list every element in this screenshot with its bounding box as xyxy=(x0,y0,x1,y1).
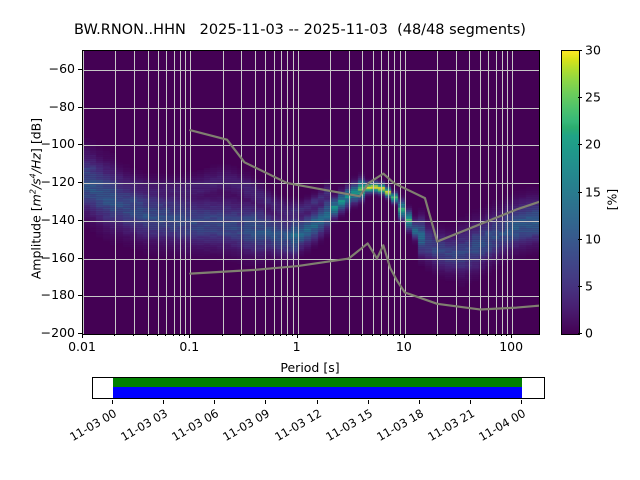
x-axis-tick-minor xyxy=(157,334,158,336)
colorbar-tick-label: 20 xyxy=(585,137,601,152)
axes-inner xyxy=(83,51,539,334)
y-axis-tick xyxy=(78,182,82,183)
x-axis-tick-label: 10 xyxy=(396,339,412,354)
y-axis-tick-label: −200 xyxy=(30,325,75,340)
x-axis-tick-minor xyxy=(329,334,330,336)
x-axis-tick-major xyxy=(82,334,83,338)
time-coverage-bar[interactable] xyxy=(92,377,545,399)
x-axis-tick-minor xyxy=(372,334,373,336)
x-axis-tick-minor xyxy=(487,334,488,336)
x-axis-tick-minor xyxy=(393,334,394,336)
gridline-horizontal xyxy=(83,334,539,335)
colorbar-tick xyxy=(578,239,582,240)
nlnm-curve xyxy=(190,243,539,309)
x-axis-tick-minor xyxy=(222,334,223,336)
time-axis-tick xyxy=(419,400,420,404)
colorbar-tick xyxy=(578,50,582,51)
x-axis-tick-minor xyxy=(455,334,456,336)
x-axis-tick-major xyxy=(297,334,298,338)
x-axis-tick-minor xyxy=(273,334,274,336)
colorbar-tick-label: 30 xyxy=(585,43,601,58)
y-axis-tick xyxy=(78,69,82,70)
x-axis-tick-minor xyxy=(292,334,293,336)
x-axis-tick-label: 0.01 xyxy=(68,339,96,354)
x-axis-tick-minor xyxy=(361,334,362,336)
x-axis-tick-minor xyxy=(286,334,287,336)
colorbar-tick-label: 25 xyxy=(585,90,601,105)
x-axis-tick-minor xyxy=(254,334,255,336)
x-axis-tick-minor xyxy=(264,334,265,336)
time-axis-tick xyxy=(368,400,369,404)
colorbar-tick-label: 0 xyxy=(585,326,593,341)
noise-model-curves xyxy=(83,51,539,334)
x-axis-tick-minor xyxy=(173,334,174,336)
x-axis-tick-major xyxy=(404,334,405,338)
x-axis-tick-minor xyxy=(240,334,241,336)
x-axis-tick-minor xyxy=(147,334,148,336)
x-axis-tick-label: 100 xyxy=(499,339,523,354)
x-axis-tick-minor xyxy=(399,334,400,336)
y-axis-label-text: Amplitude [m2/s4/Hz] [dB] xyxy=(29,118,44,279)
x-axis-tick-minor xyxy=(280,334,281,336)
y-axis-label: Amplitude [m2/s4/Hz] [dB] xyxy=(28,79,43,319)
time-axis-tick xyxy=(317,400,318,404)
x-axis-tick-major xyxy=(189,334,190,338)
x-axis-tick-minor xyxy=(468,334,469,336)
page-title: BW.RNON..HHN 2025-11-03 -- 2025-11-03 (4… xyxy=(0,22,600,38)
time-axis-tick xyxy=(112,400,113,404)
colorbar-label: [%] xyxy=(605,160,620,240)
x-axis-tick-minor xyxy=(436,334,437,336)
x-axis-tick-minor xyxy=(114,334,115,336)
x-axis-tick-minor xyxy=(165,334,166,336)
x-axis-label: Period [s] xyxy=(82,360,538,375)
y-axis-tick xyxy=(78,295,82,296)
colorbar-tick-label: 10 xyxy=(585,232,601,247)
x-axis-tick-minor xyxy=(387,334,388,336)
x-axis-tick-minor xyxy=(479,334,480,336)
x-axis-tick-label: 1 xyxy=(293,339,301,354)
x-axis-tick-minor xyxy=(506,334,507,336)
time-axis-tick xyxy=(163,400,164,404)
data-coverage-segment xyxy=(113,378,522,387)
x-axis-tick-major xyxy=(511,334,512,338)
x-axis-tick-minor xyxy=(348,334,349,336)
y-axis-tick xyxy=(78,258,82,259)
x-axis-tick-minor xyxy=(179,334,180,336)
x-axis-tick-label: 0.1 xyxy=(179,339,199,354)
colorbar-tick xyxy=(578,286,582,287)
psd-coverage-segment xyxy=(113,387,522,398)
colorbar-tick xyxy=(578,192,582,193)
x-axis-tick-minor xyxy=(184,334,185,336)
x-axis-tick-minor xyxy=(380,334,381,336)
time-axis-tick xyxy=(214,400,215,404)
colorbar-tick xyxy=(578,333,582,334)
colorbar-tick-label: 5 xyxy=(585,279,593,294)
y-axis-tick xyxy=(78,220,82,221)
ppsd-plot-area[interactable] xyxy=(82,50,540,335)
ppsd-figure: BW.RNON..HHN 2025-11-03 -- 2025-11-03 (4… xyxy=(0,0,640,480)
time-axis-tick xyxy=(265,400,266,404)
y-axis-tick xyxy=(78,107,82,108)
time-axis-tick xyxy=(470,400,471,404)
x-axis-tick-minor xyxy=(501,334,502,336)
y-axis-tick-label: −60 xyxy=(30,61,75,76)
colorbar-tick-label: 15 xyxy=(585,185,601,200)
time-axis-tick xyxy=(521,400,522,404)
y-axis-tick xyxy=(78,144,82,145)
nhnm-curve xyxy=(190,130,539,241)
colorbar-tick xyxy=(578,144,582,145)
x-axis-tick-minor xyxy=(133,334,134,336)
colorbar-tick xyxy=(578,97,582,98)
x-axis-tick-minor xyxy=(495,334,496,336)
